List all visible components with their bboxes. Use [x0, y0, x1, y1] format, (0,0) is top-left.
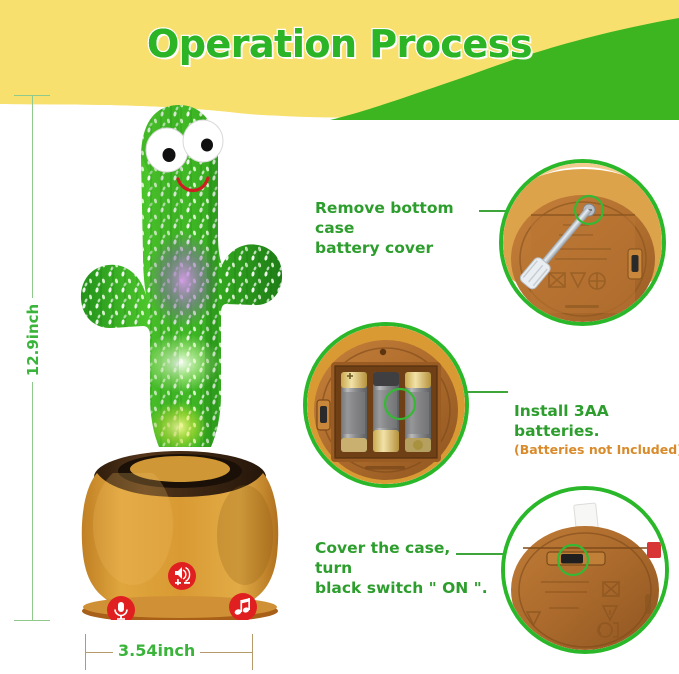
- poster-canvas: Operation Process Operation Process 12.9…: [0, 0, 679, 674]
- step-label-cover-switch-on: Cover the case, turn black switch " ON "…: [315, 538, 490, 598]
- width-dimension-cap-left: [85, 634, 86, 670]
- product-button-volume: [168, 562, 196, 590]
- height-dimension-cap-bottom: [14, 620, 50, 621]
- step-label-batteries-note: (Batteries not Included): [514, 442, 679, 458]
- product-image-cactus-toy: [55, 95, 305, 620]
- height-dimension-cap-top: [14, 95, 50, 96]
- inset-bottom-case-switch: [501, 486, 669, 654]
- product-button-music: [229, 593, 257, 620]
- step-label-remove-cover: Remove bottom case battery cover: [315, 198, 480, 258]
- width-dimension-label: 3.54inch: [113, 641, 200, 660]
- step-label-install-batteries-text: Install 3AA batteries.: [514, 402, 609, 440]
- inset-battery-compartment: [303, 322, 469, 488]
- height-dimension-label: 12.9inch: [23, 298, 43, 382]
- inset-bottom-case-screwdriver: [499, 159, 666, 326]
- page-title-fill: Operation Process: [0, 22, 679, 66]
- step-label-install-batteries: Install 3AA batteries. (Batteries not In…: [514, 381, 679, 478]
- width-dimension-cap-right: [252, 634, 253, 670]
